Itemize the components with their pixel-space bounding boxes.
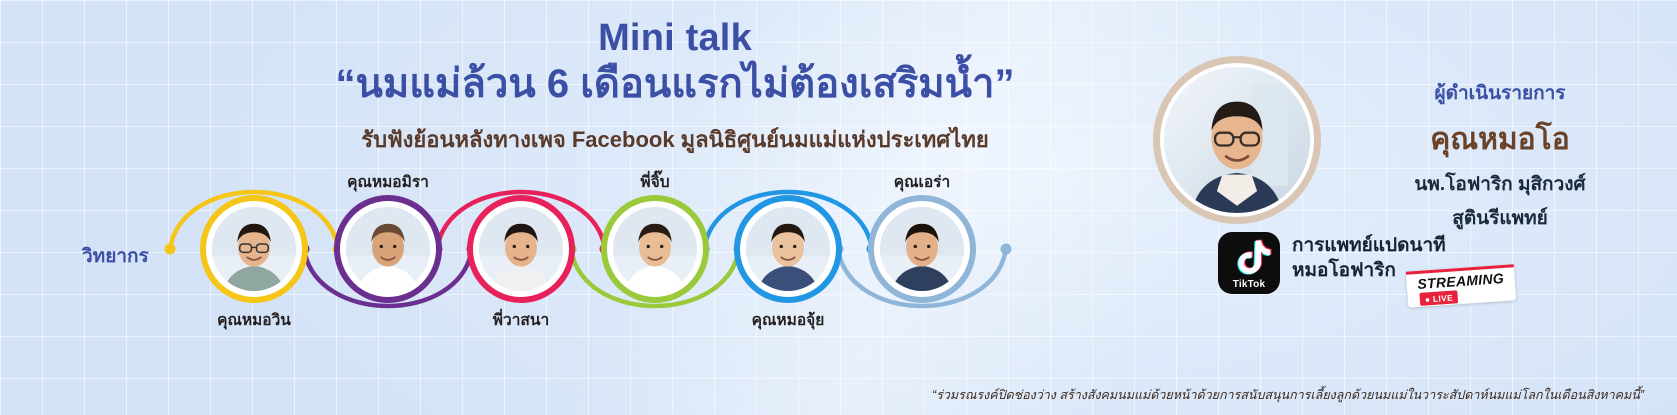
tiktok-icon[interactable]: TikTok (1218, 232, 1280, 294)
host-specialty: สูตินรีแพทย์ (1350, 207, 1650, 231)
speaker-node[interactable]: คุณหมอวิน (200, 195, 308, 303)
host-panel: ผู้ดำเนินรายการ คุณหมอโอ นพ.โอฟาริก มุสิ… (1130, 46, 1670, 246)
speaker-name: คุณเอร่า (822, 169, 1022, 194)
speaker-node[interactable]: พี่วาสนา (467, 195, 575, 303)
title-block: Mini talk “นมแม่ล้วน 6 เดือนแรกไม่ต้องเส… (240, 18, 1110, 157)
tiktok-label: TikTok (1218, 279, 1280, 290)
live-label: ● LIVE (1419, 290, 1458, 306)
timeline-dot (1001, 244, 1012, 255)
speaker-portrait-icon (880, 207, 964, 291)
speaker-portrait-icon (346, 207, 430, 291)
speaker-node[interactable]: คุณหมอมิรา (334, 195, 442, 303)
tiktok-note-icon (1218, 232, 1280, 280)
banner-background: Mini talk “นมแม่ล้วน 6 เดือนแรกไม่ต้องเส… (0, 0, 1677, 415)
speaker-name: พี่วาสนา (421, 307, 621, 332)
speaker-portrait-icon (479, 207, 563, 291)
host-portrait-icon (1164, 67, 1310, 213)
speaker-node[interactable]: คุณหมอจุ้ย (734, 195, 842, 303)
host-avatar (1153, 56, 1321, 224)
speaker-photo (610, 204, 700, 294)
speaker-name: คุณหมอมิรา (288, 169, 488, 194)
speaker-name: พี่จิ๊บ (555, 169, 755, 194)
speaker-photo (877, 204, 967, 294)
host-fullname: นพ.โอฟาริก มุสิกวงศ์ (1350, 173, 1650, 197)
speaker-photo (476, 204, 566, 294)
title-quote: “นมแม่ล้วน 6 เดือนแรกไม่ต้องเสริมน้ำ” (240, 61, 1110, 108)
host-nickname: คุณหมอโอ (1350, 116, 1650, 163)
streaming-badge: STREAMING ● LIVE (1406, 264, 1516, 307)
speaker-portrait-icon (212, 207, 296, 291)
speaker-node[interactable]: คุณเอร่า (868, 195, 976, 303)
host-text-block: ผู้ดำเนินรายการ คุณหมอโอ นพ.โอฟาริก มุสิ… (1350, 78, 1650, 231)
footer-caption: “ร่วมรณรงค์ปิดช่องว่าง สร้างสังคมนมแม่ด้… (0, 385, 1660, 405)
tiktok-channel-line1: การแพทย์แปดนาที (1292, 234, 1446, 259)
speaker-name: คุณหมอวิน (154, 307, 354, 332)
speaker-node[interactable]: พี่จิ๊บ (601, 195, 709, 303)
page-title: Mini talk (240, 18, 1110, 59)
timeline-label: วิทยากร (82, 241, 149, 271)
timeline-dot (165, 244, 176, 255)
tiktok-row: TikTok การแพทย์แปดนาที หมอโอฟาริก STREAM… (1218, 232, 1518, 304)
speaker-name: คุณหมอจุ้ย (688, 307, 888, 332)
speaker-photo (343, 204, 433, 294)
speaker-portrait-icon (613, 207, 697, 291)
speaker-timeline: วิทยากร คุณหมอวินคุณหมอมิราพี่วาสนาพี่จิ… (0, 175, 1120, 350)
speaker-photo (209, 204, 299, 294)
speaker-photo (743, 204, 833, 294)
subtitle: รับฟังย้อนหลังทางเพจ Facebook มูลนิธิศูน… (240, 122, 1110, 157)
host-role: ผู้ดำเนินรายการ (1350, 78, 1650, 108)
host-avatar-image (1164, 67, 1310, 213)
speaker-portrait-icon (746, 207, 830, 291)
